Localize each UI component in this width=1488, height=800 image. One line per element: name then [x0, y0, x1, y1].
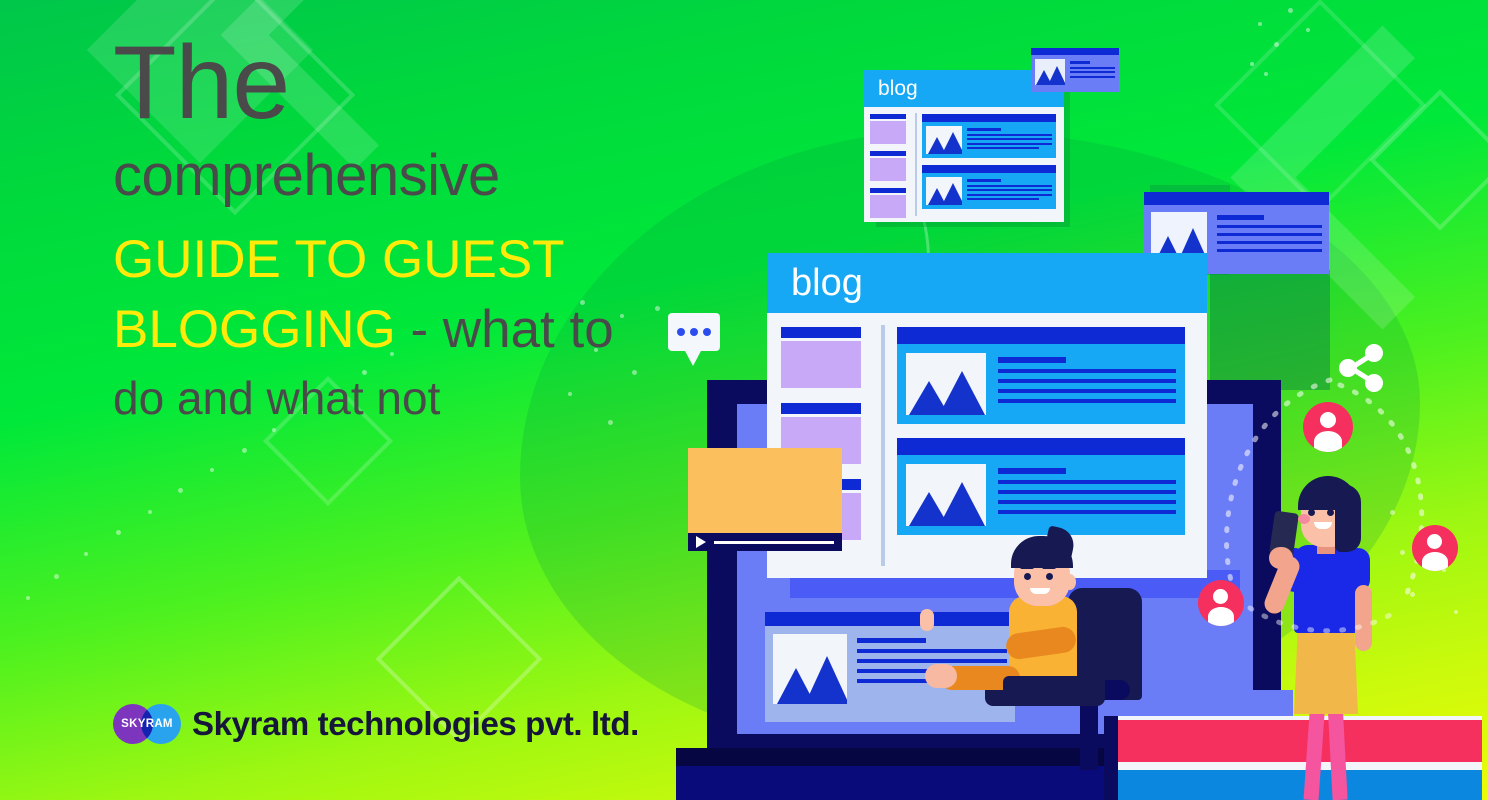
logo-company-name: Skyram technologies pvt. ltd.	[192, 705, 639, 743]
speech-bubble-icon	[668, 313, 720, 351]
man-finger-on-screen	[920, 609, 934, 631]
user-avatar-icon[interactable]	[1412, 525, 1458, 571]
image-placeholder-icon	[1035, 59, 1065, 85]
blog-window-main-title: blog	[791, 262, 863, 305]
blog-window-main-titlebar: blog	[767, 253, 1207, 313]
woman-eye-left	[1308, 509, 1315, 516]
blog-window-secondary-main	[920, 107, 1064, 222]
woman-arm-right	[1355, 585, 1372, 651]
sidebar-heading-bar	[870, 188, 906, 193]
blog-window-secondary-sidebar	[864, 107, 912, 222]
man-eye-left	[1024, 573, 1031, 580]
video-preview-card[interactable]	[688, 448, 842, 551]
bg-dot-scatter-topright	[1250, 0, 1370, 90]
sidebar-heading-bar	[781, 403, 861, 414]
man-hand	[925, 664, 957, 688]
woman-hand	[1269, 547, 1293, 569]
floating-card-top[interactable]	[1031, 48, 1119, 92]
man-eye-right	[1046, 573, 1053, 580]
headline-group: The comprehensive GUIDE TO GUEST BLOGGIN…	[113, 36, 753, 426]
play-icon[interactable]	[696, 536, 706, 548]
man-eyebrow-right	[1042, 565, 1056, 569]
headline-guide-text: GUIDE TO GUEST	[113, 230, 565, 289]
floating-card-mid-lines	[1217, 212, 1322, 266]
office-chair-post	[1080, 700, 1098, 770]
blog-post-text-lines	[967, 126, 1052, 154]
headline-line-comprehensive: comprehensive	[113, 144, 753, 209]
bg-diamond-outline-5	[1369, 89, 1488, 230]
book-stack-navy-edge	[1104, 716, 1118, 800]
speech-bubble-tail	[684, 349, 702, 366]
blog-window-secondary-title: blog	[878, 77, 918, 101]
user-avatar-icon[interactable]	[1198, 580, 1244, 626]
woman-hair-back	[1335, 484, 1361, 552]
floating-card-top-body	[1031, 55, 1119, 89]
blog-post-card[interactable]	[922, 114, 1056, 158]
headline-blogging-text: BLOGGING	[113, 300, 396, 359]
image-placeholder-icon	[926, 126, 962, 154]
speech-bubble-dot	[703, 328, 711, 336]
blog-post-header	[922, 165, 1056, 173]
woman-eye-right	[1327, 509, 1334, 516]
floating-card-top-lines	[1070, 59, 1115, 85]
woman-blush	[1298, 514, 1310, 524]
sidebar-block	[781, 341, 861, 388]
bg-panel-teal-1	[1210, 270, 1330, 390]
video-progress-track[interactable]	[714, 541, 834, 544]
woman-skirt	[1294, 626, 1358, 714]
avatar-head	[1320, 412, 1336, 428]
avatar-head	[1427, 534, 1442, 549]
speech-bubble-dot	[690, 328, 698, 336]
blog-post-card[interactable]	[897, 327, 1185, 424]
image-placeholder-icon	[926, 177, 962, 205]
headline-line-last: do and what not	[113, 371, 753, 426]
speech-bubble-body	[668, 313, 720, 351]
blog-post-card[interactable]	[897, 438, 1185, 535]
blog-post-header	[897, 327, 1185, 344]
image-placeholder-icon	[906, 353, 986, 415]
sidebar-heading-bar	[870, 114, 906, 119]
video-thumbnail	[688, 448, 842, 533]
book-stack-pink	[1116, 720, 1482, 764]
sidebar-block	[870, 195, 906, 218]
avatar-head	[1213, 589, 1228, 604]
user-avatar-icon[interactable]	[1303, 402, 1353, 452]
avatar-body	[1314, 431, 1342, 452]
blog-post-content	[897, 344, 1185, 424]
blog-window-secondary[interactable]: blog	[864, 70, 1064, 222]
floating-card-top-header	[1031, 48, 1119, 55]
image-placeholder-icon	[906, 464, 986, 526]
headline-line-blogging: BLOGGING - what to	[113, 295, 753, 365]
blog-window-main-divider	[881, 325, 885, 566]
sidebar-heading-bar	[781, 327, 861, 338]
blog-post-content	[922, 122, 1056, 158]
blog-post-content	[897, 455, 1185, 535]
avatar-body	[1208, 607, 1234, 626]
blog-window-secondary-divider	[915, 113, 917, 216]
brand-logo[interactable]: SKYRAM Skyram technologies pvt. ltd.	[113, 704, 639, 744]
logo-mark-icon: SKYRAM	[113, 704, 181, 744]
headline-line-the: The	[113, 36, 753, 132]
speech-bubble-dot	[677, 328, 685, 336]
blog-post-text-lines	[967, 177, 1052, 205]
image-placeholder-icon	[773, 634, 847, 704]
man-eyebrow-left	[1020, 565, 1034, 569]
laptop-article-header	[765, 612, 1015, 626]
woman-eyebrow-left	[1305, 502, 1317, 505]
man-smile	[1030, 588, 1050, 594]
blog-post-header	[897, 438, 1185, 455]
sidebar-block	[870, 158, 906, 181]
book-stack-blue	[1116, 770, 1482, 800]
headline-whatto-text: - what to	[396, 300, 614, 359]
blog-post-text-lines	[998, 353, 1176, 415]
logo-mark-text: SKYRAM	[113, 704, 181, 744]
avatar-body	[1422, 552, 1448, 571]
man-lap	[1003, 676, 1083, 702]
floating-card-mid-header	[1144, 192, 1329, 205]
blog-post-header	[922, 114, 1056, 122]
share-icon[interactable]	[1334, 340, 1388, 396]
sidebar-heading-bar	[870, 151, 906, 156]
blog-post-card[interactable]	[922, 165, 1056, 209]
sidebar-block	[870, 121, 906, 144]
man-ear	[1064, 574, 1076, 590]
banner-canvas: The comprehensive GUIDE TO GUEST BLOGGIN…	[0, 0, 1488, 800]
headline-line-guide: GUIDE TO GUEST	[113, 225, 753, 295]
blog-window-secondary-body	[864, 107, 1064, 222]
woman-eyebrow-right	[1324, 502, 1336, 505]
blog-post-text-lines	[998, 464, 1176, 526]
video-controls-bar[interactable]	[688, 533, 842, 551]
blog-post-content	[922, 173, 1056, 209]
